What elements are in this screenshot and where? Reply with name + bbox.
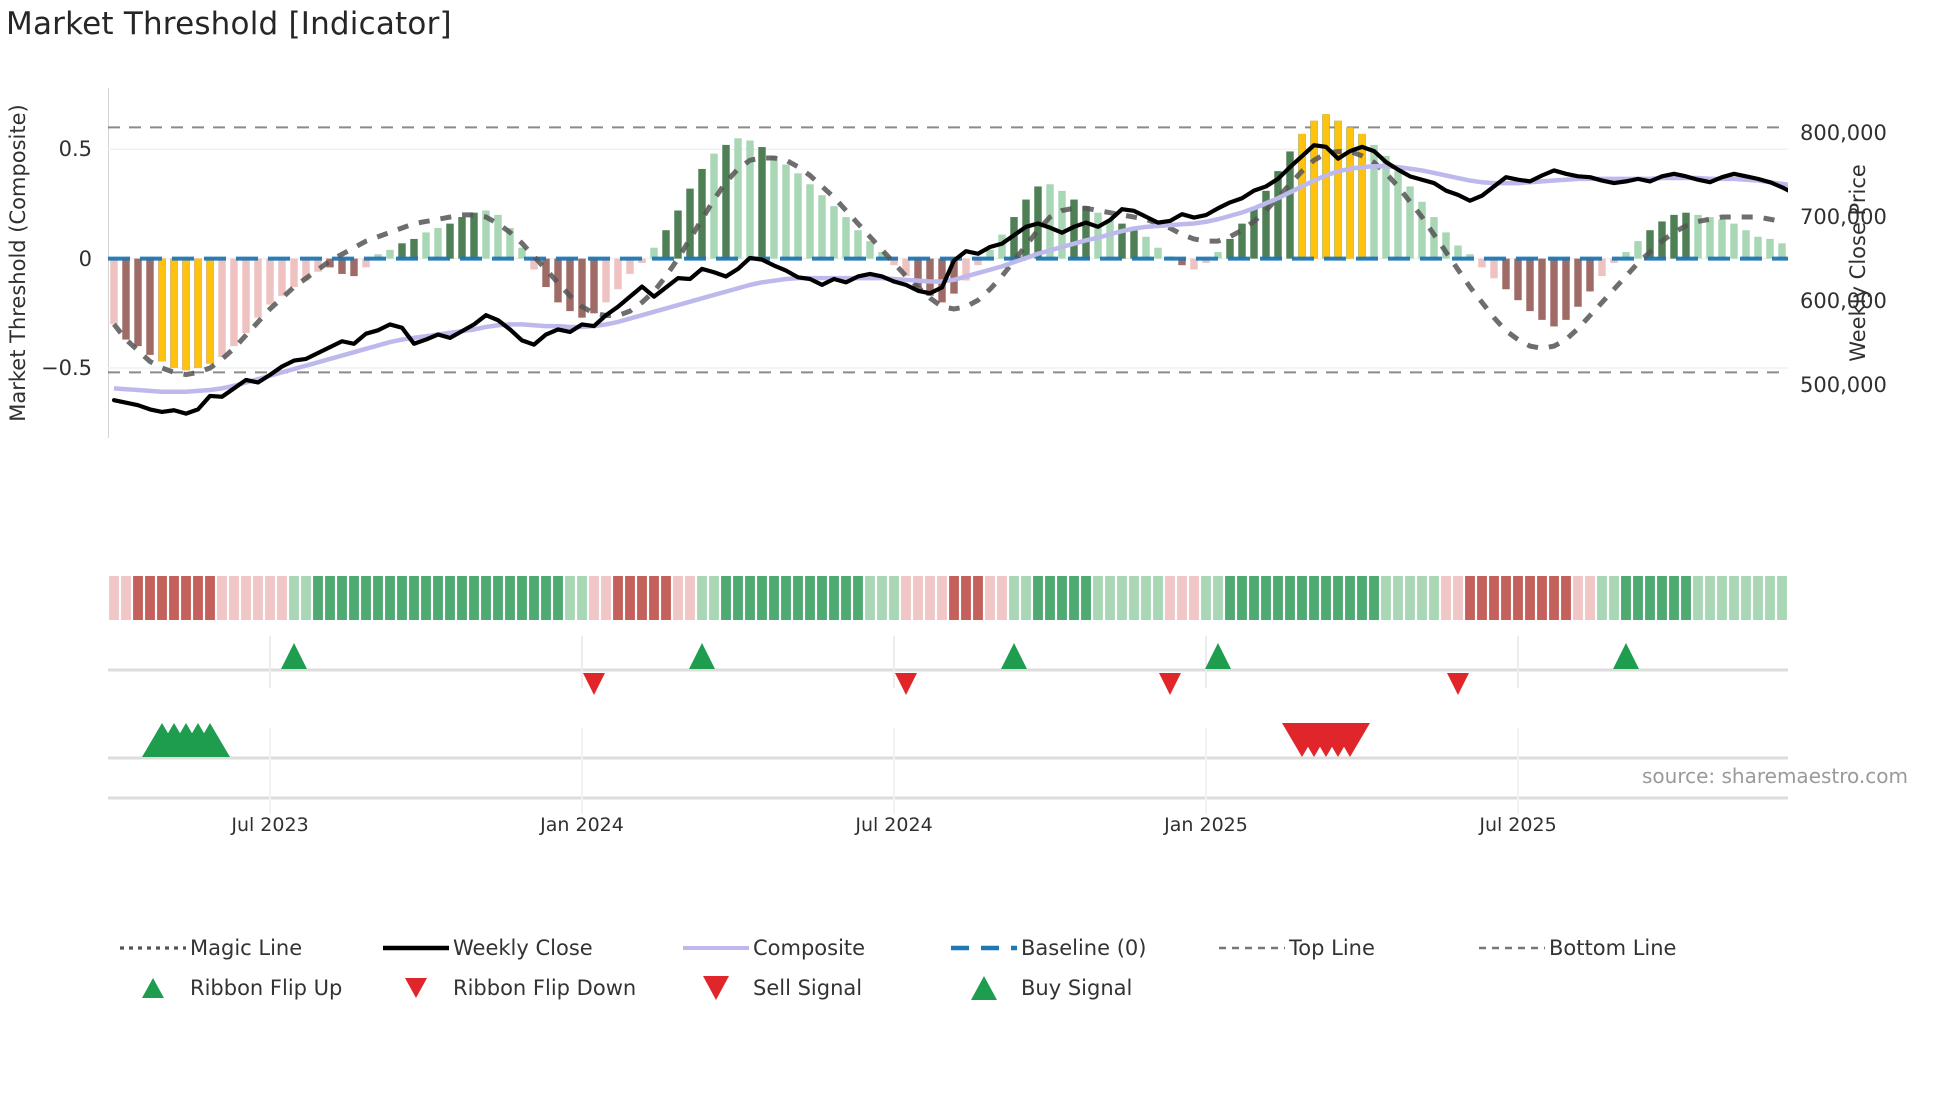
ribbon-cell: [157, 576, 167, 620]
ribbon-cell: [505, 576, 515, 620]
ribbon-cell: [805, 576, 815, 620]
histogram-bar: [614, 259, 621, 290]
ribbon-flip-down-marker: [1447, 673, 1469, 695]
histogram-bar: [410, 239, 417, 259]
ribbon-cell: [625, 576, 635, 620]
ribbon-cell: [1105, 576, 1115, 620]
histogram-bar: [1538, 259, 1545, 320]
ribbon-cell: [1117, 576, 1127, 620]
legend-label: Sell Signal: [753, 976, 862, 1000]
legend-item[interactable]: Magic Line: [116, 935, 369, 961]
green-up-triangle-icon: [116, 975, 190, 1001]
histogram-bar: [1718, 219, 1725, 258]
ribbon-cell: [949, 576, 959, 620]
histogram-bar: [998, 235, 1005, 259]
histogram-bar: [218, 259, 225, 357]
ribbon-cell: [433, 576, 443, 620]
solid-lavender-line-icon: [679, 935, 753, 961]
ribbon-cell: [1669, 576, 1679, 620]
ribbon-cell: [1417, 576, 1427, 620]
histogram-bar: [1706, 217, 1713, 259]
legend-label: Weekly Close: [453, 936, 593, 960]
histogram-bar: [1130, 230, 1137, 258]
histogram-bar: [254, 259, 261, 318]
highlighted-histogram-bar: [159, 259, 166, 362]
ribbon-cell: [733, 576, 743, 620]
ribbon-cell: [685, 576, 695, 620]
ribbon-cell: [1213, 576, 1223, 620]
ribbon-cell: [1321, 576, 1331, 620]
histogram-bar: [842, 217, 849, 259]
legend-item[interactable]: Ribbon Flip Up: [116, 975, 369, 1001]
ribbon-cell: [1273, 576, 1283, 620]
ribbon-cell: [1585, 576, 1595, 620]
green-up-triangle-icon: [971, 976, 997, 1000]
y-axis-right-tick: 500,000: [1800, 373, 1887, 397]
ribbon-cell: [337, 576, 347, 620]
legend-item[interactable]: Sell Signal: [679, 975, 937, 1001]
ribbon-cell: [673, 576, 683, 620]
ribbon-cell: [1693, 576, 1703, 620]
ribbon-cell: [193, 576, 203, 620]
ribbon-cell: [421, 576, 431, 620]
histogram-bar: [470, 213, 477, 259]
ribbon-flip-up-marker: [1001, 643, 1027, 669]
y-axis-left-tick: −0.5: [0, 356, 92, 380]
ribbon-cell: [1369, 576, 1379, 620]
ribbon-cell: [1501, 576, 1511, 620]
ribbon-cell: [853, 576, 863, 620]
legend-label: Baseline (0): [1021, 936, 1146, 960]
ribbon-cell: [385, 576, 395, 620]
highlighted-histogram-bar: [1347, 127, 1354, 258]
ribbon-cell: [913, 576, 923, 620]
ribbon-cell: [565, 576, 575, 620]
page-title: Market Threshold [Indicator]: [6, 6, 452, 42]
ribbon-cell: [253, 576, 263, 620]
legend-label: Ribbon Flip Up: [190, 976, 342, 1000]
ribbon-cell: [373, 576, 383, 620]
ribbon-cell: [925, 576, 935, 620]
ribbon-cell: [121, 576, 131, 620]
ribbon-cell: [529, 576, 539, 620]
ribbon-cell: [1573, 576, 1583, 620]
ribbon-cell: [1237, 576, 1247, 620]
histogram-bar: [818, 195, 825, 258]
ribbon-cell: [577, 576, 587, 620]
histogram-bar: [866, 241, 873, 259]
histogram-bar: [590, 259, 597, 314]
dashed-gray-line-icon: [1475, 935, 1549, 961]
histogram-bar: [1238, 224, 1245, 259]
ribbon-cell: [1165, 576, 1175, 620]
ribbon-flip-up-marker: [1613, 643, 1639, 669]
ribbon-cell: [877, 576, 887, 620]
histogram-bar: [122, 259, 129, 340]
red-down-triangle-large-icon: [679, 975, 753, 1001]
histogram-bar: [398, 243, 405, 258]
ribbon-cell: [817, 576, 827, 620]
x-axis-tick: Jan 2024: [540, 814, 624, 836]
ribbon-cell: [589, 576, 599, 620]
green-up-triangle-large-icon: [947, 975, 1021, 1001]
ribbon-cell: [1057, 576, 1067, 620]
ribbon-cell: [481, 576, 491, 620]
ribbon-flip-up-marker: [689, 643, 715, 669]
ribbon-cell: [1297, 576, 1307, 620]
y-axis-right-tick: 800,000: [1800, 121, 1887, 145]
indicator-chart-svg: [108, 88, 1788, 438]
x-axis-tick: Jul 2025: [1479, 814, 1556, 836]
ribbon-cell: [1141, 576, 1151, 620]
ribbon-cell: [1729, 576, 1739, 620]
ribbon-cell: [277, 576, 287, 620]
red-down-triangle-icon: [703, 976, 729, 1000]
ribbon-cell: [313, 576, 323, 620]
ribbon-cell: [217, 576, 227, 620]
histogram-bar: [1106, 219, 1113, 258]
legend-item[interactable]: Baseline (0): [947, 935, 1205, 961]
ribbon-cell: [181, 576, 191, 620]
ribbon-cell: [1453, 576, 1463, 620]
y-axis-left-tick: 0: [0, 247, 92, 271]
ribbon-cell: [289, 576, 299, 620]
ribbon-cell: [901, 576, 911, 620]
ribbon-cell: [1429, 576, 1439, 620]
histogram-bar: [1562, 259, 1569, 320]
ribbon-cell: [1741, 576, 1751, 620]
histogram-bar: [806, 184, 813, 258]
ribbon-cell: [553, 576, 563, 620]
ribbon-cell: [1753, 576, 1763, 620]
legend-item[interactable]: Buy Signal: [947, 975, 1132, 1001]
ribbon-flip-down-marker: [1159, 673, 1181, 695]
ribbon-cell: [1489, 576, 1499, 620]
highlighted-histogram-bar: [1335, 121, 1342, 259]
ribbon-cell: [601, 576, 611, 620]
dotted-gray-line-icon: [116, 935, 190, 961]
legend-item[interactable]: Weekly Close: [379, 935, 669, 961]
histogram-bar: [1250, 208, 1257, 258]
ribbon-cell: [841, 576, 851, 620]
main-plot-area: Market Threshold (Composite): [108, 88, 1788, 438]
histogram-bar: [734, 138, 741, 258]
ribbon-cell: [1477, 576, 1487, 620]
histogram-bar: [1142, 237, 1149, 259]
ribbon-cell: [1609, 576, 1619, 620]
x-axis-tick: Jul 2023: [231, 814, 308, 836]
highlighted-histogram-bar: [207, 259, 214, 364]
histogram-bar: [350, 259, 357, 277]
histogram-bar: [782, 165, 789, 259]
histogram-bar: [566, 259, 573, 312]
histogram-bar: [434, 228, 441, 259]
ribbon-cell: [709, 576, 719, 620]
ribbon-cell: [1261, 576, 1271, 620]
histogram-bar: [1514, 259, 1521, 301]
ribbon-cell: [937, 576, 947, 620]
ribbon-cell: [1021, 576, 1031, 620]
ribbon-cell: [1765, 576, 1775, 620]
ribbon-cell: [349, 576, 359, 620]
ribbon-flip-down-marker: [895, 673, 917, 695]
ribbon-cell: [145, 576, 155, 620]
legend-item[interactable]: Ribbon Flip Down: [379, 975, 669, 1001]
y-axis-right-tick: 700,000: [1800, 205, 1887, 229]
ribbon-cell: [409, 576, 419, 620]
ribbon-strip: [108, 574, 1788, 622]
ribbon-cell: [1381, 576, 1391, 620]
ribbon-cell: [961, 576, 971, 620]
ribbon-cell: [1081, 576, 1091, 620]
ribbon-cell: [1777, 576, 1787, 620]
histogram-bar: [1382, 156, 1389, 259]
histogram-bar: [758, 147, 765, 259]
signal-markers-panel: [108, 628, 1788, 814]
histogram-bar: [830, 206, 837, 259]
histogram-bar: [602, 259, 609, 303]
legend-label: Top Line: [1289, 936, 1375, 960]
histogram-bar: [1490, 259, 1497, 279]
ribbon-cell: [1285, 576, 1295, 620]
ribbon-cell: [493, 576, 503, 620]
histogram-bar: [1154, 248, 1161, 259]
ribbon-cell: [1561, 576, 1571, 620]
ribbon-cell: [697, 576, 707, 620]
red-down-triangle-icon: [405, 978, 427, 998]
ribbon-cell: [1597, 576, 1607, 620]
ribbon-flip-down-marker: [583, 673, 605, 695]
ribbon-cell: [1657, 576, 1667, 620]
legend-item[interactable]: Top Line: [1215, 935, 1465, 961]
legend-label: Buy Signal: [1021, 976, 1132, 1000]
ribbon-cell: [637, 576, 647, 620]
ribbon-cell: [757, 576, 767, 620]
ribbon-cell: [889, 576, 899, 620]
ribbon-cell: [445, 576, 455, 620]
ribbon-cell: [1189, 576, 1199, 620]
ribbon-cell: [1309, 576, 1319, 620]
histogram-bar: [1634, 241, 1641, 259]
x-axis-tick: Jul 2024: [855, 814, 932, 836]
ribbon-cell: [469, 576, 479, 620]
legend-label: Magic Line: [190, 936, 302, 960]
ribbon-cell: [1525, 576, 1535, 620]
ribbon-cell: [1357, 576, 1367, 620]
ribbon-cell: [397, 576, 407, 620]
histogram-bar: [110, 259, 117, 325]
ribbon-cell: [1441, 576, 1451, 620]
ribbon-cell: [781, 576, 791, 620]
histogram-bar: [1730, 224, 1737, 259]
ribbon-cell: [1537, 576, 1547, 620]
ribbon-cell: [745, 576, 755, 620]
histogram-bar: [134, 259, 141, 347]
histogram-bar: [1502, 259, 1509, 290]
ribbon-cell: [997, 576, 1007, 620]
histogram-bar: [1586, 259, 1593, 292]
ribbon-cell: [1405, 576, 1415, 620]
ribbon-cell: [769, 576, 779, 620]
histogram-bar: [1754, 237, 1761, 259]
ribbon-cell: [613, 576, 623, 620]
histogram-bar: [770, 156, 777, 259]
ribbon-cell: [1513, 576, 1523, 620]
x-axis-tick: Jan 2025: [1164, 814, 1248, 836]
highlighted-histogram-bar: [171, 259, 178, 368]
histogram-bar: [1526, 259, 1533, 312]
histogram-bar: [662, 230, 669, 258]
histogram-bar: [1598, 259, 1605, 277]
ribbon-cell: [1621, 576, 1631, 620]
source-attribution: source: sharemaestro.com: [1642, 764, 1908, 788]
ribbon-cell: [361, 576, 371, 620]
ribbon-cell: [1393, 576, 1403, 620]
ribbon-cell: [1033, 576, 1043, 620]
dashed-gray-line-icon: [1215, 935, 1289, 961]
ribbon-cell: [973, 576, 983, 620]
ribbon-cell: [1645, 576, 1655, 620]
ribbon-cell: [265, 576, 275, 620]
histogram-bar: [446, 224, 453, 259]
y-axis-right-tick: 600,000: [1800, 289, 1887, 313]
ribbon-cell: [1549, 576, 1559, 620]
histogram-bar: [458, 217, 465, 259]
histogram-bar: [1778, 243, 1785, 258]
histogram-bar: [626, 259, 633, 274]
histogram-bar: [722, 145, 729, 259]
ribbon-cell: [1069, 576, 1079, 620]
histogram-bar: [1670, 215, 1677, 259]
histogram-bar: [494, 215, 501, 259]
ribbon-cell: [1333, 576, 1343, 620]
ribbon-cell: [1177, 576, 1187, 620]
histogram-bar: [854, 230, 861, 258]
y-axis-left-tick: 0.5: [0, 137, 92, 161]
dashed-blue-line-icon: [947, 935, 1021, 961]
chart-legend: Magic LineWeekly CloseCompositeBaseline …: [116, 928, 1916, 1008]
ribbon-cell: [865, 576, 875, 620]
ribbon-cell: [1465, 576, 1475, 620]
ribbon-cell: [241, 576, 251, 620]
ribbon-cell: [301, 576, 311, 620]
legend-row-2: Ribbon Flip UpRibbon Flip DownSell Signa…: [116, 968, 1916, 1008]
histogram-bar: [686, 189, 693, 259]
ribbon-cell: [649, 576, 659, 620]
histogram-bar: [422, 232, 429, 258]
green-up-triangle-icon: [142, 978, 164, 998]
ribbon-cell: [1345, 576, 1355, 620]
ribbon-cell: [721, 576, 731, 620]
red-down-triangle-icon: [379, 975, 453, 1001]
ribbon-cell: [1633, 576, 1643, 620]
ribbon-cell: [1681, 576, 1691, 620]
histogram-bar: [242, 259, 249, 333]
legend-label: Composite: [753, 936, 865, 960]
legend-item[interactable]: Composite: [679, 935, 937, 961]
histogram-bar: [1766, 239, 1773, 259]
ribbon-cell: [1225, 576, 1235, 620]
highlighted-histogram-bar: [1323, 114, 1330, 258]
ribbon-cell: [169, 576, 179, 620]
histogram-bar: [230, 259, 237, 347]
ribbon-cell: [1093, 576, 1103, 620]
histogram-bar: [338, 259, 345, 274]
histogram-bar: [290, 259, 297, 287]
legend-label: Bottom Line: [1549, 936, 1676, 960]
highlighted-histogram-bar: [195, 259, 202, 368]
y-axis-right-label: Weekly Close Price: [1846, 164, 1870, 362]
ribbon-flip-up-marker: [281, 643, 307, 669]
ribbon-cell: [1045, 576, 1055, 620]
histogram-bar: [1550, 259, 1557, 327]
ribbon-cell: [1717, 576, 1727, 620]
ribbon-cell: [109, 576, 119, 620]
ribbon-cell: [1009, 576, 1019, 620]
ribbon-cell: [229, 576, 239, 620]
ribbon-cell: [1705, 576, 1715, 620]
ribbon-cell: [793, 576, 803, 620]
highlighted-histogram-bar: [1311, 121, 1318, 259]
ribbon-cell: [541, 576, 551, 620]
histogram-bar: [1742, 230, 1749, 258]
ribbon-cell: [1201, 576, 1211, 620]
histogram-bar: [146, 259, 153, 355]
ribbon-cell: [1153, 576, 1163, 620]
ribbon-cell: [985, 576, 995, 620]
histogram-bar: [542, 259, 549, 287]
histogram-bar: [1574, 259, 1581, 307]
legend-row-1: Magic LineWeekly CloseCompositeBaseline …: [116, 928, 1916, 968]
histogram-bar: [266, 259, 273, 305]
histogram-bar: [278, 259, 285, 296]
ribbon-cell: [133, 576, 143, 620]
ribbon-cell: [829, 576, 839, 620]
solid-black-line-icon: [379, 935, 453, 961]
ribbon-cell: [517, 576, 527, 620]
ribbon-cell: [1249, 576, 1259, 620]
ribbon-cell: [457, 576, 467, 620]
legend-label: Ribbon Flip Down: [453, 976, 636, 1000]
histogram-bar: [1682, 213, 1689, 259]
histogram-bar: [386, 250, 393, 259]
histogram-bar: [794, 173, 801, 258]
ribbon-cell: [325, 576, 335, 620]
highlighted-histogram-bar: [183, 259, 190, 371]
histogram-bar: [1274, 171, 1281, 259]
histogram-bar: [1082, 206, 1089, 259]
ribbon-cell: [661, 576, 671, 620]
ribbon-cell: [1129, 576, 1139, 620]
ribbon-cell: [205, 576, 215, 620]
ribbon-flip-up-marker: [1205, 643, 1231, 669]
legend-item[interactable]: Bottom Line: [1475, 935, 1676, 961]
histogram-bar: [1226, 239, 1233, 259]
